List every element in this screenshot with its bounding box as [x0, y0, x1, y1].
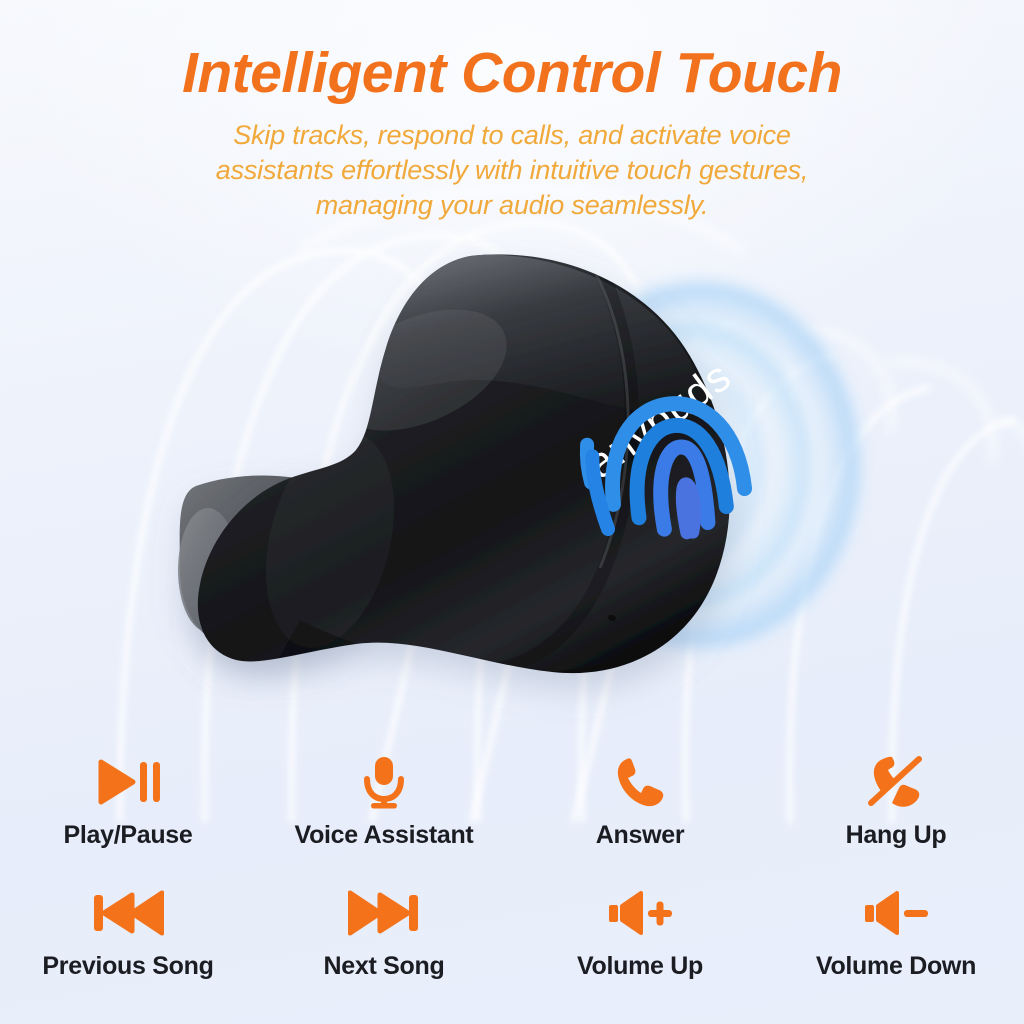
page-subtitle: Skip tracks, respond to calls, and activ…: [0, 118, 1024, 223]
skip-previous-icon[interactable]: [92, 883, 164, 943]
control-label: Hang Up: [846, 821, 947, 850]
volume-up-icon[interactable]: [607, 883, 673, 943]
control-label: Next Song: [324, 952, 445, 981]
control-item-hang-up[interactable]: Hang Up: [768, 752, 1024, 883]
subtitle-line-2: assistants effortlessly with intuitive t…: [0, 153, 1024, 188]
control-label: Previous Song: [42, 952, 213, 981]
volume-down-icon[interactable]: [863, 883, 929, 943]
header-block: Intelligent Control Touch Skip tracks, r…: [0, 44, 1024, 223]
control-label: Voice Assistant: [295, 821, 474, 850]
control-item-next-song[interactable]: Next Song: [256, 883, 512, 1014]
microphone-icon[interactable]: [359, 752, 409, 812]
play-pause-icon[interactable]: [95, 752, 161, 812]
control-item-previous-song[interactable]: Previous Song: [0, 883, 256, 1014]
control-label: Play/Pause: [63, 821, 192, 850]
control-label: Volume Up: [577, 952, 703, 981]
control-item-play-pause[interactable]: Play/Pause: [0, 752, 256, 883]
control-item-answer[interactable]: Answer: [512, 752, 768, 883]
control-label: Volume Down: [816, 952, 976, 981]
control-item-voice-assistant[interactable]: Voice Assistant: [256, 752, 512, 883]
subtitle-line-1: Skip tracks, respond to calls, and activ…: [0, 118, 1024, 153]
phone-answer-icon[interactable]: [614, 752, 666, 812]
control-item-volume-down[interactable]: Volume Down: [768, 883, 1024, 1014]
page-title: Intelligent Control Touch: [0, 44, 1024, 104]
hero-product-illustration: anybuds: [0, 240, 1024, 740]
phone-hangup-icon[interactable]: [867, 752, 925, 812]
infographic-page: Intelligent Control Touch Skip tracks, r…: [0, 0, 1024, 1024]
control-item-volume-up[interactable]: Volume Up: [512, 883, 768, 1014]
control-label: Answer: [596, 821, 685, 850]
control-gesture-grid: Play/Pause Voice Assistant Answer: [0, 752, 1024, 1014]
subtitle-line-3: managing your audio seamlessly.: [0, 188, 1024, 223]
skip-next-icon[interactable]: [348, 883, 420, 943]
